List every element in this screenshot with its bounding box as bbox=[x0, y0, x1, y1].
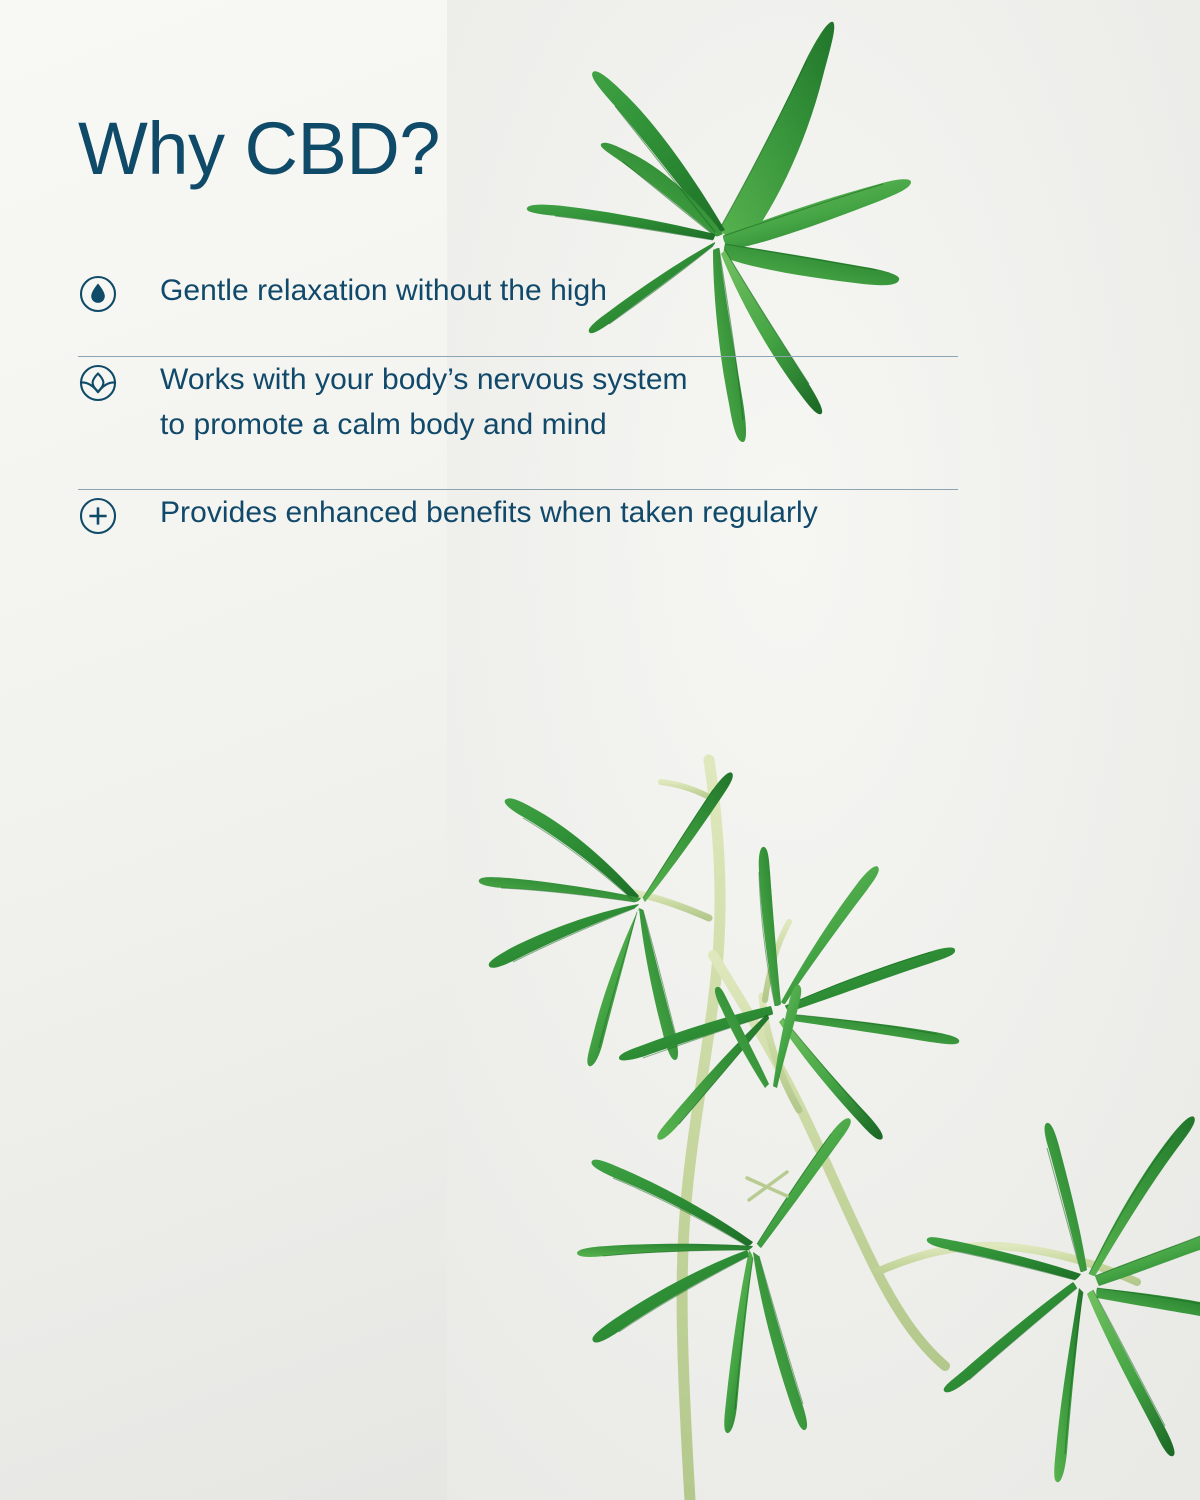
benefit-item-nervous-system: Works with your body’s nervous system to… bbox=[78, 357, 960, 489]
promo-card: Why CBD? Gentle relaxation without the h… bbox=[0, 0, 1200, 1500]
benefit-item-regular-use: Provides enhanced benefits when taken re… bbox=[78, 490, 960, 578]
water-droplet-in-circle-icon bbox=[78, 274, 118, 314]
page-title: Why CBD? bbox=[78, 112, 440, 186]
benefit-item-relaxation: Gentle relaxation without the high bbox=[78, 268, 960, 356]
benefit-text: Gentle relaxation without the high bbox=[160, 268, 960, 313]
benefit-text: Works with your body’s nervous system to… bbox=[160, 357, 960, 447]
plus-in-circle-icon bbox=[78, 496, 118, 536]
benefit-list: Gentle relaxation without the high Works… bbox=[78, 268, 960, 578]
lotus-in-circle-icon bbox=[78, 363, 118, 403]
benefit-text: Provides enhanced benefits when taken re… bbox=[160, 490, 960, 535]
content-column: Why CBD? Gentle relaxation without the h… bbox=[0, 0, 1200, 760]
